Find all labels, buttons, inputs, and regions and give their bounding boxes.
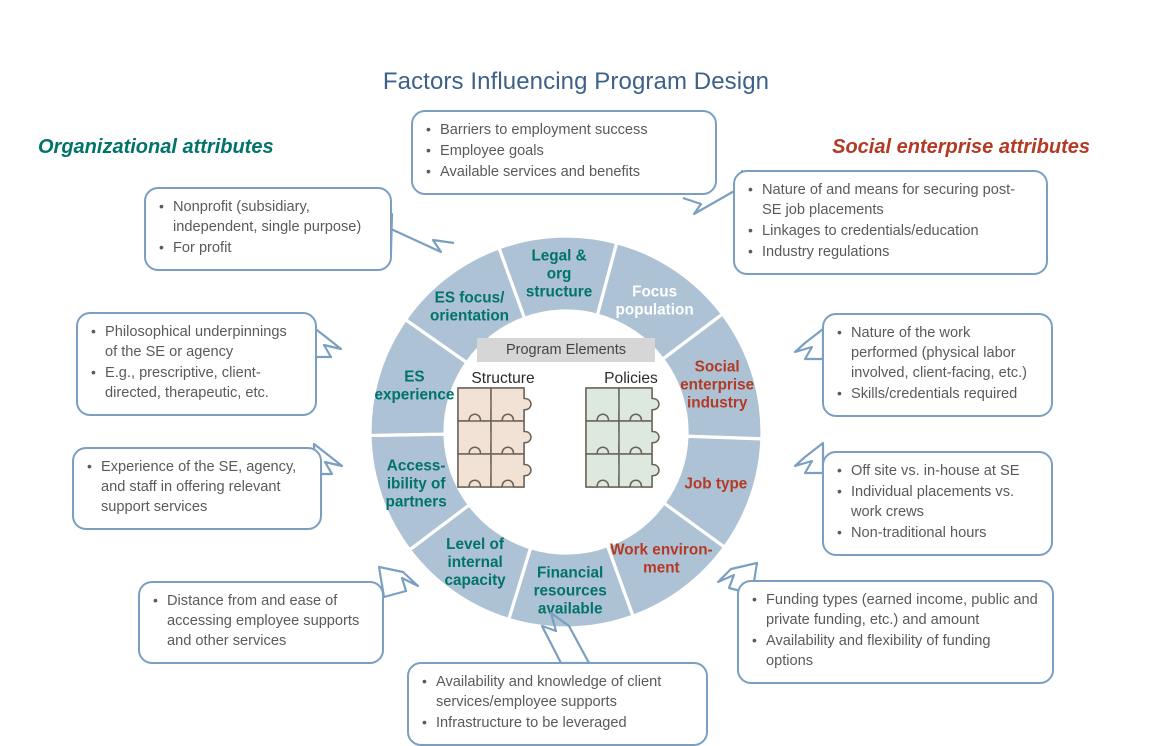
callout-bullet: Distance from and ease of accessing empl… xyxy=(152,592,368,652)
callout-bullet: For profit xyxy=(158,239,376,259)
callout-list: Funding types (earned income, public and… xyxy=(751,591,1038,672)
callout-bullet: Industry regulations xyxy=(747,243,1032,263)
callout-legal-org-structure: Nonprofit (subsidiary, independent, sing… xyxy=(144,187,392,271)
callout-bullet: Barriers to employment success xyxy=(425,121,701,141)
callout-bullet: E.g., prescriptive, client-directed, the… xyxy=(90,364,301,404)
tail-accessibility xyxy=(379,567,418,597)
callout-social-enterprise-industry: Nature of and means for securing post-SE… xyxy=(733,170,1048,275)
puzzle-piece-policies-2-1 xyxy=(619,454,659,487)
program-elements-banner: Program Elements xyxy=(477,338,655,362)
puzzle-group-structure xyxy=(458,388,531,487)
puzzle-piece-structure-0-1 xyxy=(491,388,531,421)
callout-bullet: Available services and benefits xyxy=(425,163,701,183)
callout-list: Distance from and ease of accessing empl… xyxy=(152,592,368,652)
puzzle-grids xyxy=(458,388,688,498)
callout-list: Availability and knowledge of client ser… xyxy=(421,673,692,734)
puzzle-title-policies: Policies xyxy=(583,370,679,388)
callout-list: Barriers to employment successEmployee g… xyxy=(425,121,701,183)
callout-list: Nature of the work performed (physical l… xyxy=(836,324,1037,405)
callout-bullet: Employee goals xyxy=(425,142,701,162)
callout-list: Off site vs. in-house at SEIndividual pl… xyxy=(836,462,1037,544)
callout-bullet: Individual placements vs. work crews xyxy=(836,483,1037,523)
callout-work-environment: Off site vs. in-house at SEIndividual pl… xyxy=(822,451,1053,556)
callout-list: Nonprofit (subsidiary, independent, sing… xyxy=(158,198,376,259)
callout-bullet: Nature of the work performed (physical l… xyxy=(836,324,1037,384)
callout-financial-resources-available: Funding types (earned income, public and… xyxy=(737,580,1054,684)
callout-bullet: Infrastructure to be leveraged xyxy=(421,714,692,734)
puzzle-piece-policies-0-1 xyxy=(619,388,659,421)
tail-level-of-capacity xyxy=(542,613,589,663)
callout-es-experience: Experience of the SE, agency, and staff … xyxy=(72,447,322,530)
callout-bullet: Availability and knowledge of client ser… xyxy=(421,673,692,713)
tail-job-type xyxy=(795,329,823,359)
callout-bullet: Experience of the SE, agency, and staff … xyxy=(86,458,306,518)
callout-es-focus-orientation: Philosophical underpinnings of the SE or… xyxy=(76,312,317,416)
callout-accessibility-of-partners: Distance from and ease of accessing empl… xyxy=(138,581,384,664)
callout-level-of-internal-capacity: Availability and knowledge of client ser… xyxy=(407,662,708,746)
tail-es-focus xyxy=(313,327,341,357)
callout-bullet: Skills/credentials required xyxy=(836,385,1037,405)
tail-legal-org xyxy=(391,214,454,252)
puzzle-title-structure: Structure xyxy=(455,370,551,388)
callout-job-type: Nature of the work performed (physical l… xyxy=(822,313,1053,417)
callout-focus-population: Barriers to employment successEmployee g… xyxy=(411,110,717,195)
puzzle-group-policies xyxy=(586,388,659,487)
tail-work-environment xyxy=(795,443,823,473)
puzzle-piece-structure-2-1 xyxy=(491,454,531,487)
puzzle-piece-policies-1-1 xyxy=(619,421,659,454)
puzzle-piece-structure-1-1 xyxy=(491,421,531,454)
callout-list: Philosophical underpinnings of the SE or… xyxy=(90,323,301,404)
callout-bullet: Non-traditional hours xyxy=(836,524,1037,544)
callout-bullet: Philosophical underpinnings of the SE or… xyxy=(90,323,301,363)
callout-bullet: Off site vs. in-house at SE xyxy=(836,462,1037,482)
callout-bullet: Funding types (earned income, public and… xyxy=(751,591,1038,631)
callout-list: Nature of and means for securing post-SE… xyxy=(747,181,1032,263)
callout-bullet: Availability and flexibility of funding … xyxy=(751,632,1038,672)
callout-bullet: Linkages to credentials/education xyxy=(747,222,1032,242)
callout-list: Experience of the SE, agency, and staff … xyxy=(86,458,306,518)
callout-bullet: Nature of and means for securing post-SE… xyxy=(747,181,1032,221)
diagram-canvas: Factors Influencing Program Design Organ… xyxy=(0,0,1152,742)
callout-bullet: Nonprofit (subsidiary, independent, sing… xyxy=(158,198,376,238)
